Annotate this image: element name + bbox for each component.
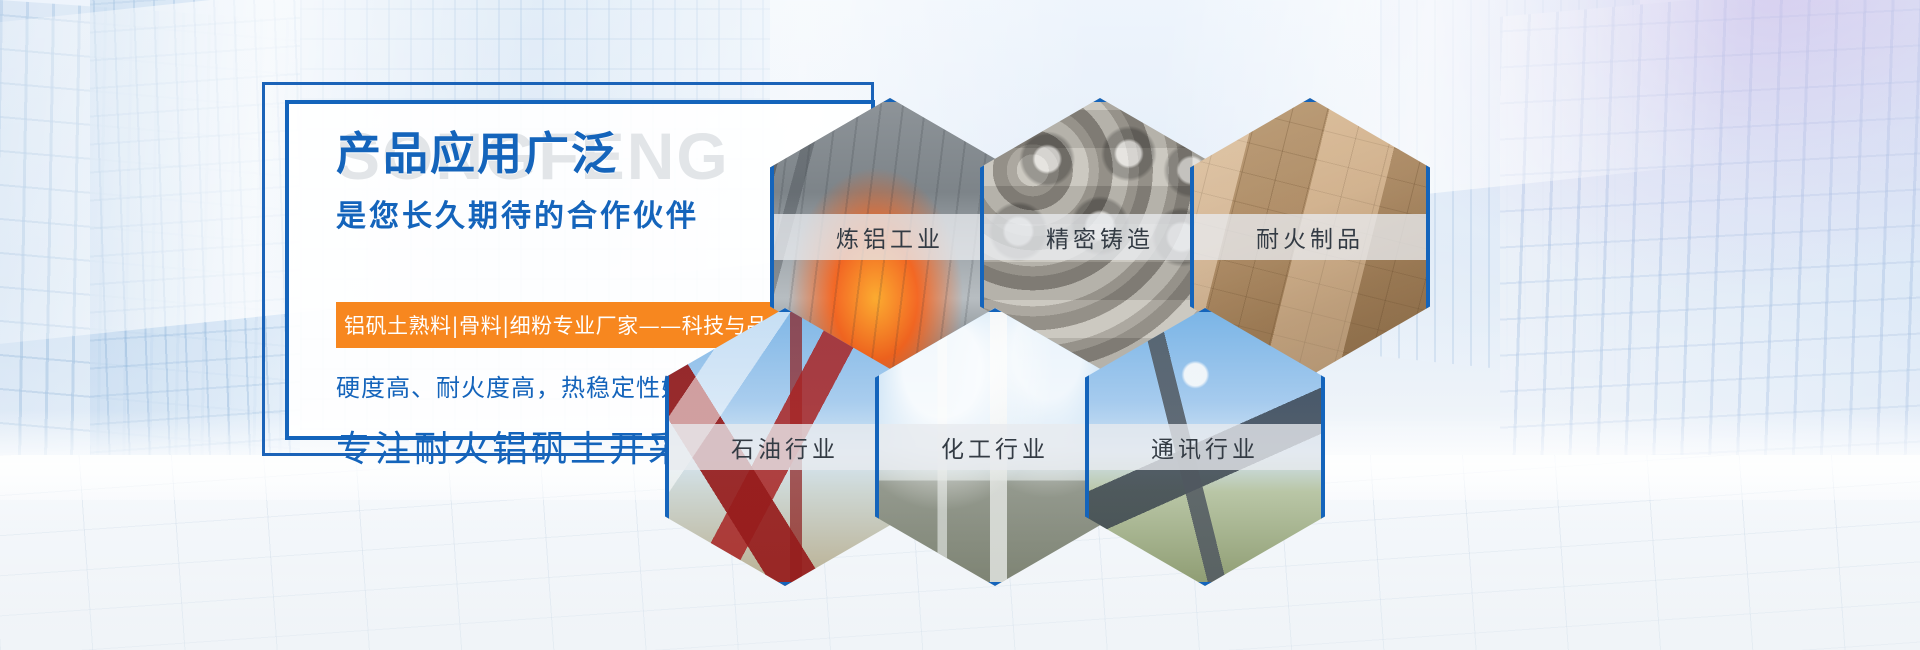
hex-label-casting: 精密铸造	[980, 214, 1220, 260]
industry-hexagon-grid: 炼铝工业 精密铸造 耐火制品 石油行业 化工行业 通讯行业	[660, 70, 1920, 590]
hex-label-petroleum: 石油行业	[665, 424, 905, 470]
banner-root: SONGFENG 产品应用广泛 是您长久期待的合作伙伴 铝矾土熟料|骨料|细粉专…	[0, 0, 1920, 650]
hex-label-telecom: 通讯行业	[1085, 424, 1325, 470]
hex-label-smelting: 炼铝工业	[770, 214, 1010, 260]
hex-label-chemical: 化工行业	[875, 424, 1115, 470]
hex-label-refractory: 耐火制品	[1190, 214, 1430, 260]
